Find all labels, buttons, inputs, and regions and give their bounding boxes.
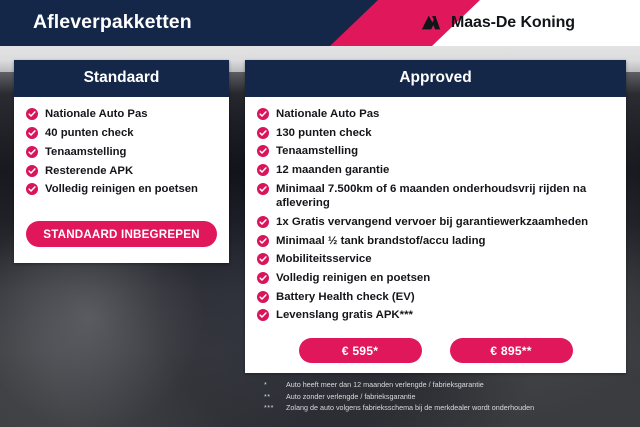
feature-label: Nationale Auto Pas — [45, 107, 148, 121]
brand-name: Maas-De Koning — [451, 14, 575, 32]
feature-label: Levenslang gratis APK*** — [276, 308, 413, 322]
feature-label: Minimaal ½ tank brandstof/accu lading — [276, 234, 486, 248]
check-circle-icon — [26, 108, 38, 120]
footnote-marker: * — [264, 379, 286, 391]
list-item: Minimaal 7.500km of 6 maanden onderhouds… — [257, 182, 614, 211]
price-button-895[interactable]: € 895** — [450, 338, 573, 363]
list-item: Minimaal ½ tank brandstof/accu lading — [257, 234, 614, 248]
brand-logo: Maas-De Koning — [420, 0, 575, 46]
feature-label: Tenaamstelling — [276, 144, 358, 158]
footnote-text: Zolang de auto volgens fabrieksschema bi… — [286, 402, 634, 414]
check-circle-icon — [257, 272, 269, 284]
package-title-approved: Approved — [245, 60, 626, 97]
list-item: 12 maanden garantie — [257, 163, 614, 177]
feature-label: Battery Health check (EV) — [276, 290, 415, 304]
check-circle-icon — [257, 108, 269, 120]
check-circle-icon — [257, 235, 269, 247]
feature-label: 1x Gratis vervangend vervoer bij garanti… — [276, 215, 588, 229]
feature-label: 12 maanden garantie — [276, 163, 389, 177]
feature-label: 130 punten check — [276, 126, 372, 140]
list-item: 1x Gratis vervangend vervoer bij garanti… — [257, 215, 614, 229]
check-circle-icon — [26, 165, 38, 177]
check-circle-icon — [257, 183, 269, 195]
feature-label: Tenaamstelling — [45, 145, 126, 159]
footnote-text: Auto zonder verlengde / fabrieksgarantie — [286, 391, 634, 403]
price-button-row: € 595* € 895** — [245, 338, 626, 363]
afleverpakketten-page: Afleverpakketten Maas-De Koning Standaar… — [0, 0, 640, 427]
check-circle-icon — [257, 291, 269, 303]
feature-label: Resterende APK — [45, 164, 133, 178]
feature-label: 40 punten check — [45, 126, 134, 140]
feature-label: Mobiliteitsservice — [276, 252, 372, 266]
feature-label: Volledig reinigen en poetsen — [276, 271, 430, 285]
check-circle-icon — [26, 146, 38, 158]
footnote-marker: ** — [264, 391, 286, 403]
footnote-triple-asterisk: *** Zolang de auto volgens fabrieksschem… — [264, 402, 634, 414]
list-item: Mobiliteitsservice — [257, 252, 614, 266]
list-item: Resterende APK — [26, 164, 217, 178]
feature-label: Minimaal 7.500km of 6 maanden onderhouds… — [276, 182, 614, 211]
check-circle-icon — [257, 253, 269, 265]
check-circle-icon — [26, 183, 38, 195]
check-circle-icon — [257, 127, 269, 139]
standaard-inbegrepen-button[interactable]: STANDAARD INBEGREPEN — [26, 221, 217, 247]
package-body-standaard: Nationale Auto Pas 40 punten check Tenaa… — [14, 97, 229, 197]
list-item: Volledig reinigen en poetsen — [257, 271, 614, 285]
check-circle-icon — [257, 145, 269, 157]
feature-label: Nationale Auto Pas — [276, 107, 379, 121]
feature-list-approved: Nationale Auto Pas 130 punten check Tena… — [257, 107, 614, 323]
list-item: Nationale Auto Pas — [26, 107, 217, 121]
check-circle-icon — [257, 216, 269, 228]
footnote-double-asterisk: ** Auto zonder verlengde / fabrieksgaran… — [264, 391, 634, 403]
footnote-single-asterisk: * Auto heeft meer dan 12 maanden verleng… — [264, 379, 634, 391]
package-body-approved: Nationale Auto Pas 130 punten check Tena… — [245, 97, 626, 323]
price-button-595[interactable]: € 595* — [299, 338, 422, 363]
package-card-approved: Approved Nationale Auto Pas 130 punten c… — [245, 60, 626, 373]
feature-list-standaard: Nationale Auto Pas 40 punten check Tenaa… — [26, 107, 217, 197]
list-item: Tenaamstelling — [257, 144, 614, 158]
feature-label: Volledig reinigen en poetsen — [45, 182, 198, 196]
footnotes: * Auto heeft meer dan 12 maanden verleng… — [264, 379, 634, 414]
list-item: Nationale Auto Pas — [257, 107, 614, 121]
list-item: 40 punten check — [26, 126, 217, 140]
maas-de-koning-logo-icon — [420, 12, 442, 34]
package-title-standaard: Standaard — [14, 60, 229, 97]
list-item: Battery Health check (EV) — [257, 290, 614, 304]
footnote-marker: *** — [264, 402, 286, 414]
check-circle-icon — [257, 309, 269, 321]
footnote-text: Auto heeft meer dan 12 maanden verlengde… — [286, 379, 634, 391]
list-item: 130 punten check — [257, 126, 614, 140]
list-item: Levenslang gratis APK*** — [257, 308, 614, 322]
list-item: Volledig reinigen en poetsen — [26, 182, 217, 196]
list-item: Tenaamstelling — [26, 145, 217, 159]
check-circle-icon — [257, 164, 269, 176]
check-circle-icon — [26, 127, 38, 139]
page-title: Afleverpakketten — [33, 11, 192, 34]
page-header: Afleverpakketten Maas-De Koning — [0, 0, 640, 46]
